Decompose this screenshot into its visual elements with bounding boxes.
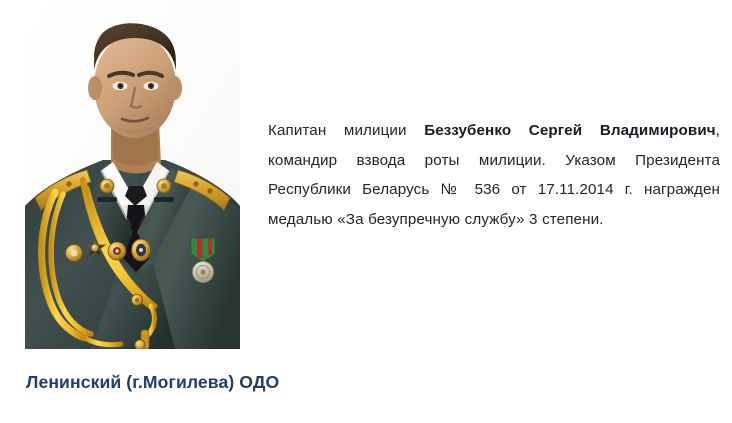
officer-full-name: Беззубенко Сергей Владимирович: [424, 122, 715, 139]
portrait-illustration: [25, 0, 240, 349]
unit-caption: Ленинский (г.Могилева) ОДО: [26, 372, 279, 393]
tunic-button: [135, 340, 145, 349]
officer-bio-text: Капитан милиции Беззубенко Сергей Владим…: [268, 116, 720, 234]
centre-chest-badge: [132, 239, 151, 261]
honoree-card-page: Капитан милиции Беззубенко Сергей Владим…: [0, 0, 732, 423]
officer-portrait-photo: [25, 0, 240, 349]
officer-bio-block: Капитан милиции Беззубенко Сергей Владим…: [268, 116, 720, 234]
officer-rank: Капитан милиции: [268, 122, 424, 139]
